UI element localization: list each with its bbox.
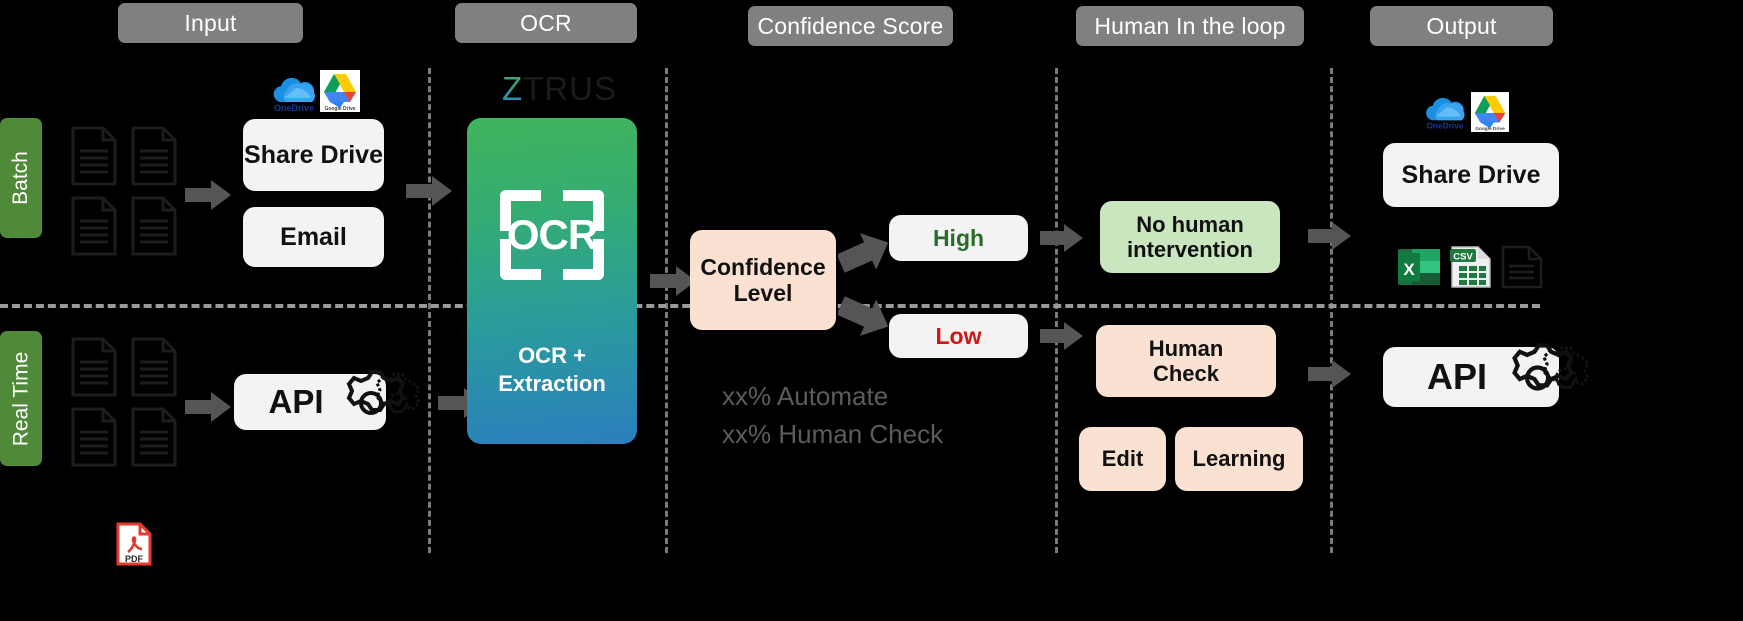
column-divider-3 [1055,68,1058,553]
arrow-input-to-ocr-batch [406,174,454,208]
human-subcard-label: Learning [1193,446,1286,471]
onedrive-logo: OneDrive [1419,92,1471,130]
svg-text:PDF: PDF [125,554,144,564]
svg-text:Google Drive: Google Drive [1475,126,1505,132]
input-card-api[interactable]: API [234,374,410,430]
column-header-label: Input [184,10,236,37]
google-drive-logo: Google Drive [320,70,360,112]
brand-accent-letter: Z [502,70,523,107]
svg-text:X: X [1403,260,1415,279]
arrow-human-to-output-top [1308,220,1352,252]
ocr-badge-label: OCR [500,190,604,280]
column-header-ocr: OCR [455,3,637,43]
brand-rest: TRUS [523,70,617,107]
google-drive-logo: Google Drive [1471,92,1509,132]
svg-text:Google Drive: Google Drive [324,106,355,112]
lane-tag-real-time: Real Time [0,331,42,466]
gear-icon [1503,341,1589,420]
diagram-canvas: Input OCR Confidence Score Human In the … [0,0,1743,621]
api-card-label: API [268,383,323,421]
svg-text:OneDrive: OneDrive [274,103,314,112]
document-logo [1500,245,1544,289]
output-card-share-drive[interactable]: Share Drive [1383,143,1559,207]
csv-logo: CSV [1448,245,1494,289]
lane-tag-label: Real Time [9,351,33,446]
confidence-branch-label: High [933,225,984,251]
arrow-human-to-output-bottom [1308,358,1352,390]
column-divider-2 [665,68,668,553]
document-icon [70,196,118,256]
column-header-label: OCR [520,10,572,37]
input-card-label: Share Drive [244,141,383,170]
column-divider-4 [1330,68,1333,553]
onedrive-logo: OneDrive [266,72,322,112]
api-card-label: API [1427,356,1487,398]
document-icon [70,126,118,186]
arrow-realtime-to-api [185,390,233,424]
confidence-branch-low[interactable]: Low [889,314,1028,358]
human-card-line2: Check [1153,361,1219,386]
output-card-api[interactable]: API [1383,347,1583,407]
lane-tag-batch: Batch [0,118,42,238]
arrow-low-to-human-check [1040,320,1084,352]
input-card-email[interactable]: Email [243,207,384,267]
input-card-label: Email [280,223,347,252]
human-card-no-human-intervention[interactable]: No human intervention [1100,201,1280,273]
output-card-label: Share Drive [1402,161,1541,190]
gear-icon [338,368,420,443]
confidence-stat-automate: xx% Automate [722,378,943,416]
column-header-label: Human In the loop [1094,13,1285,40]
ocr-engine-panel: OCR OCR + Extraction [467,118,637,444]
ocr-scan-icon: OCR [500,190,604,280]
document-icon [130,337,178,397]
document-icon [70,407,118,467]
confidence-stat-human-check: xx% Human Check [722,416,943,454]
confidence-level-line1: Confidence [700,254,825,280]
confidence-branch-high[interactable]: High [889,215,1028,261]
excel-logo: X [1396,245,1444,289]
confidence-level-line2: Level [734,280,793,306]
human-subcard-label: Edit [1102,446,1144,471]
column-header-label: Confidence Score [757,13,943,40]
ocr-caption: OCR + Extraction [498,342,606,397]
human-card-line1: No human [1136,212,1244,237]
pdf-file-icon: PDF [116,522,152,566]
arrow-batch-to-source [185,178,233,212]
column-divider-1 [428,68,431,553]
human-subcard-learning[interactable]: Learning [1175,427,1303,491]
input-documents-batch [70,126,178,256]
lane-tag-label: Batch [9,151,33,205]
arrow-high-to-no-human [1040,222,1084,254]
column-header-label: Output [1426,13,1496,40]
document-icon [130,407,178,467]
human-subcard-edit[interactable]: Edit [1079,427,1166,491]
human-card-human-check[interactable]: Human Check [1096,325,1276,397]
ocr-caption-line2: Extraction [498,370,606,398]
column-header-input: Input [118,3,303,43]
column-header-human-in-the-loop: Human In the loop [1076,6,1304,46]
confidence-branch-label: Low [936,323,982,349]
document-icon [130,196,178,256]
human-card-line1: Human [1149,336,1224,361]
human-card-line2: intervention [1127,237,1253,262]
input-documents-realtime [70,337,178,467]
brand-wordmark: ZTRUS [502,70,617,108]
column-header-output: Output [1370,6,1553,46]
ocr-caption-line1: OCR + [498,342,606,370]
confidence-level-node[interactable]: Confidence Level [690,230,836,330]
svg-text:OneDrive: OneDrive [1426,121,1463,130]
document-icon [70,337,118,397]
input-card-share-drive[interactable]: Share Drive [243,119,384,191]
svg-text:CSV: CSV [1453,252,1473,263]
confidence-stats: xx% Automate xx% Human Check [722,378,943,453]
document-icon [130,126,178,186]
column-header-confidence-score: Confidence Score [748,6,953,46]
